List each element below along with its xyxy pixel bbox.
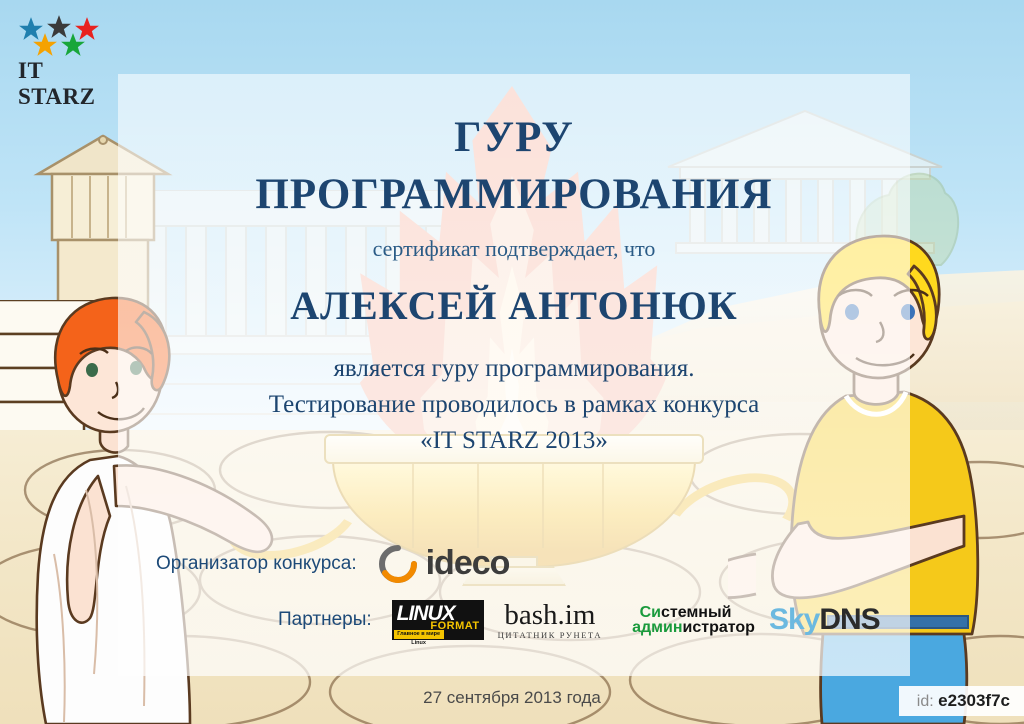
skydns-logo: SkyDNS [769, 603, 880, 637]
partners-row: Партнеры: LINUX FORMAT Главное в мире Li… [278, 600, 1024, 640]
issue-date: 27 сентября 2013 года [0, 688, 1024, 708]
body-line-2: Тестирование проводилось в рамках конкур… [118, 387, 910, 423]
confirm-text: сертификат подтверждает, что [118, 236, 910, 262]
bash-im-tagline: ЦИТАТНИК РУНЕТА [498, 630, 602, 640]
ideco-logo: ideco [379, 544, 510, 583]
linux-format-logo: LINUX FORMAT Главное в мире Linux [392, 600, 484, 640]
sysadmin-line2-green: админ [632, 619, 682, 636]
sysadmin-logo: Системный администратор [616, 605, 755, 635]
certificate-canvas: IT STARZ ГУРУ ПРОГРАММИРОВАНИЯ сертифика… [0, 0, 1024, 724]
title-line-2: ПРОГРАММИРОВАНИЯ [118, 166, 910, 224]
bash-im-logo: bash.im ЦИТАТНИК РУНЕТА [498, 600, 602, 640]
ideco-ring-icon [379, 545, 417, 583]
certificate-id-value: e2303f7c [938, 691, 1010, 710]
certificate-id-label: id: [917, 693, 934, 710]
skydns-part2: DNS [819, 603, 879, 636]
ideco-wordmark: ideco [426, 544, 510, 583]
title-line-1: ГУРУ [118, 110, 910, 166]
organizer-label: Организатор конкурса: [156, 553, 357, 575]
sysadmin-line2-black: истратор [683, 619, 755, 636]
organizer-row: Организатор конкурса: ideco [156, 544, 876, 583]
partners-label: Партнеры: [278, 609, 372, 631]
body-line-1: является гуру программирования. [118, 351, 910, 387]
body-line-3: «IT STARZ 2013» [118, 423, 910, 459]
bash-im-wordmark: bash.im [504, 600, 595, 630]
logo-wordmark: IT STARZ [18, 58, 126, 110]
star-orange-icon [32, 32, 58, 58]
it-starz-logo: IT STARZ [16, 12, 126, 92]
recipient-name: АЛЕКСЕЙ АНТОНЮК [118, 282, 910, 329]
certificate-content: ГУРУ ПРОГРАММИРОВАНИЯ сертификат подтвер… [118, 74, 910, 676]
star-green-icon [60, 32, 86, 58]
certificate-id-box: id: e2303f7c [899, 686, 1024, 716]
logo-stars [16, 12, 120, 56]
skydns-part1: Sky [769, 603, 819, 636]
linux-format-tagline: Главное в мире Linux [394, 630, 444, 639]
